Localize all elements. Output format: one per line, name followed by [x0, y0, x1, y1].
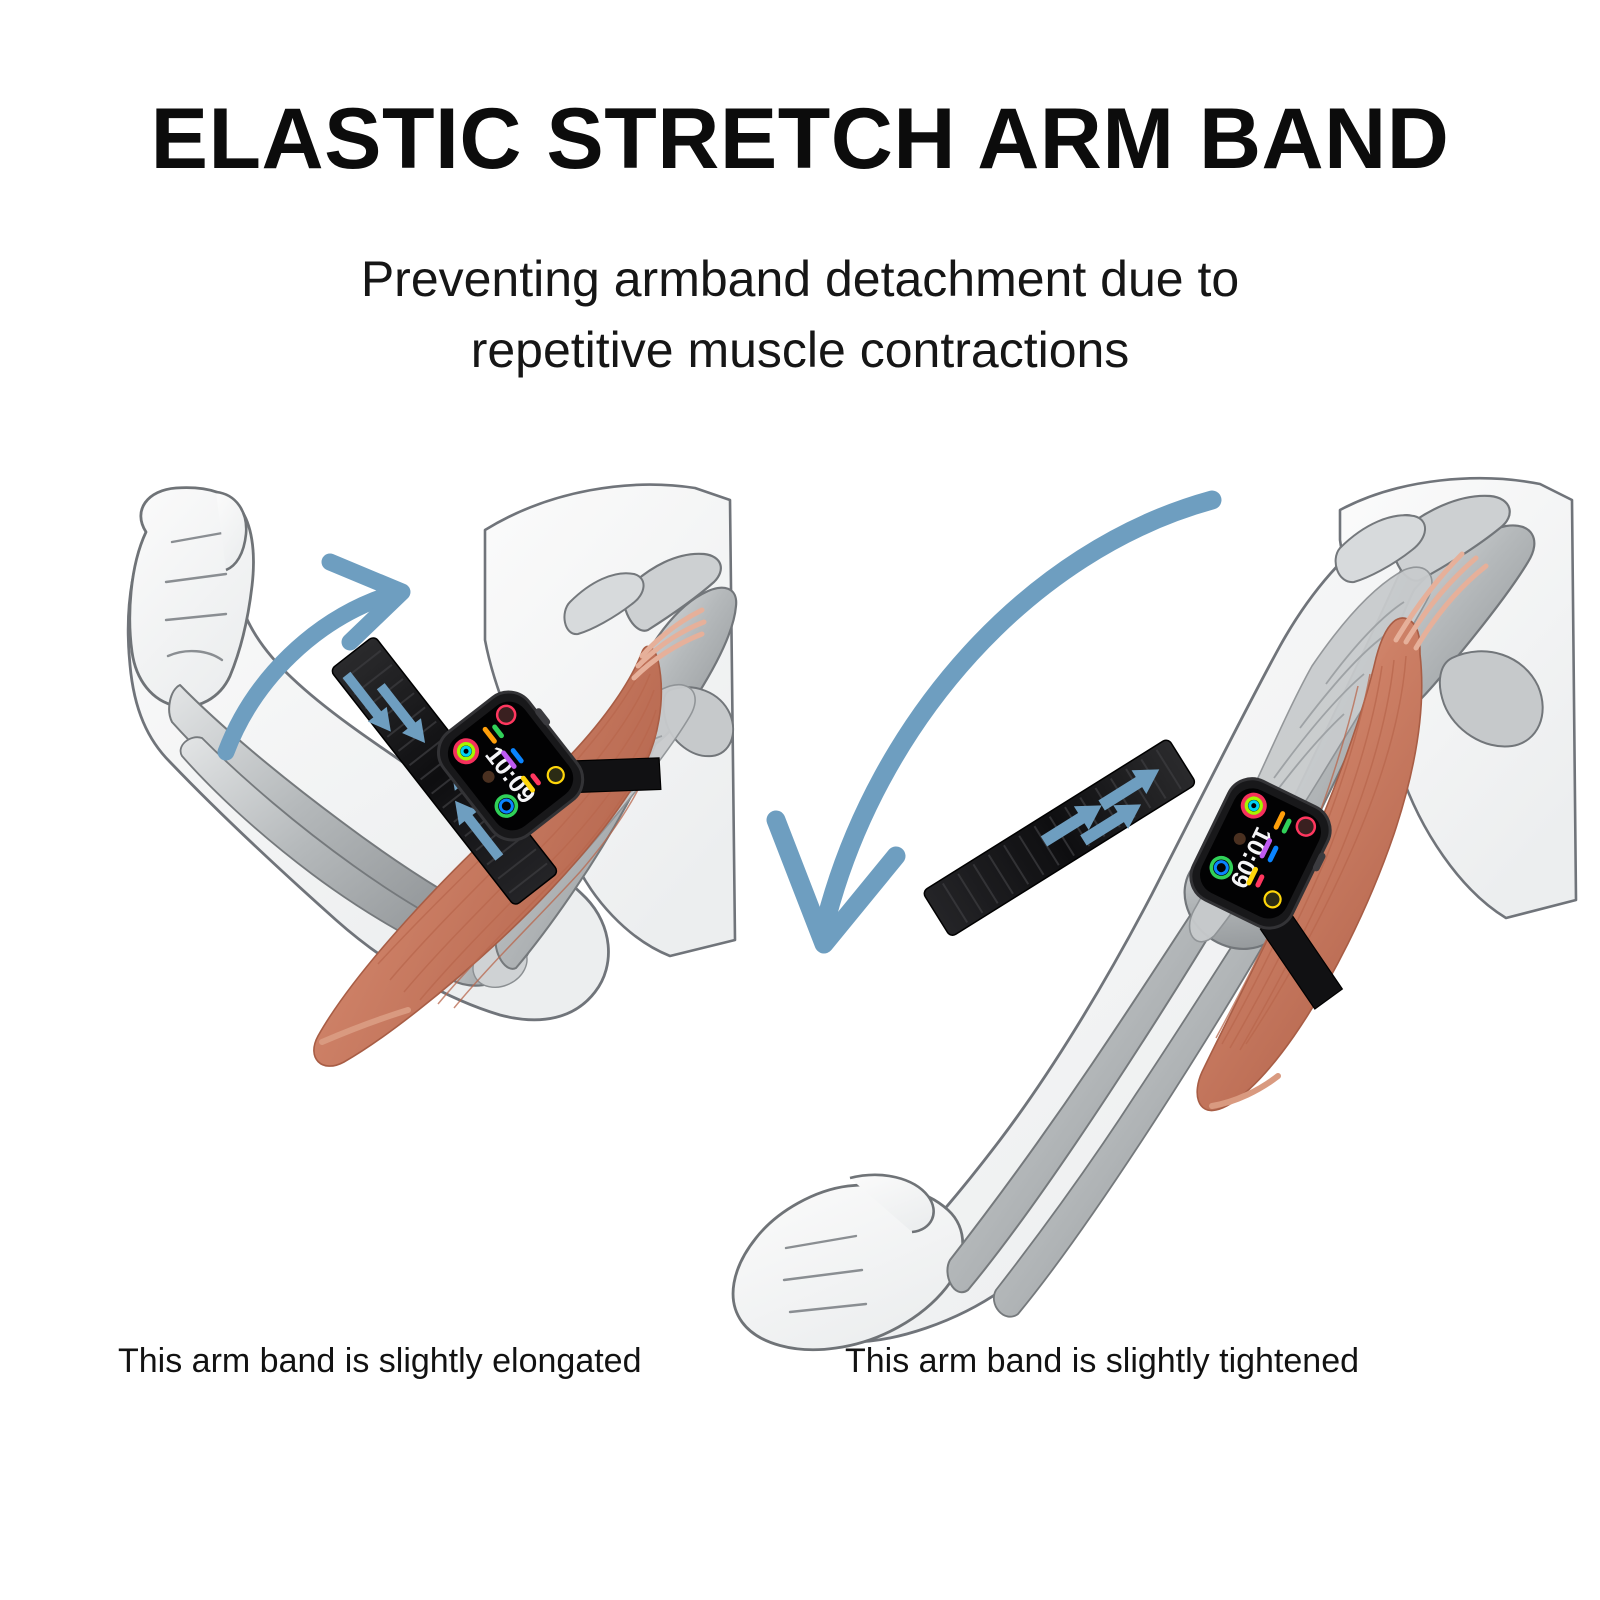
caption-right: This arm band is slightly tightened — [845, 1340, 1359, 1383]
caption-row: This arm band is slightly elongated This… — [0, 1340, 1600, 1410]
page-subtitle: Preventing armband detachment due to rep… — [250, 244, 1350, 386]
illustration-arm-extended: 10:09 — [700, 470, 1600, 1370]
subtitle-line-1: Preventing armband detachment due to — [250, 244, 1350, 315]
illustration-arm-flexed: 10:09 — [30, 470, 790, 1370]
header: ELASTIC STRETCH ARM BAND Preventing armb… — [0, 0, 1600, 386]
illustration-stage: 10:09 — [0, 470, 1600, 1370]
caption-left: This arm band is slightly elongated — [118, 1340, 642, 1383]
product-infographic-page: ELASTIC STRETCH ARM BAND Preventing armb… — [0, 0, 1600, 1600]
subtitle-line-2: repetitive muscle contractions — [250, 315, 1350, 386]
page-title: ELASTIC STRETCH ARM BAND — [0, 96, 1600, 184]
